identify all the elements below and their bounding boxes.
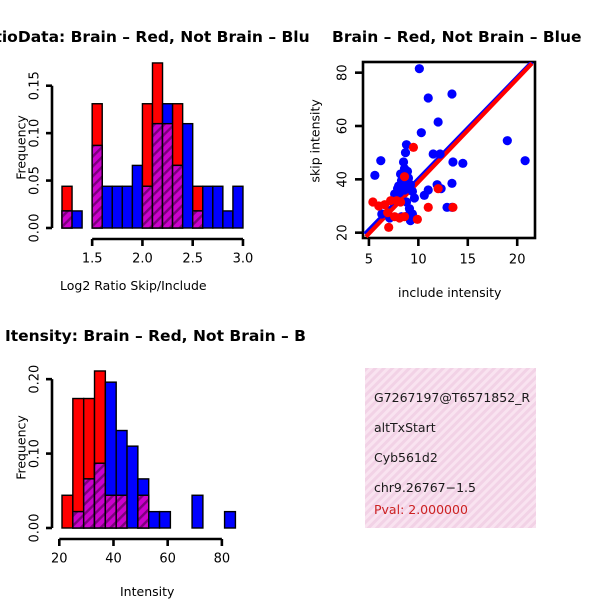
y-tick-label: 20 [336,224,351,241]
hist-bar-overlap [193,211,203,228]
y-tick-label: 80 [336,64,351,81]
hist-ratio-ylabel: Frequency [14,113,29,183]
info-line-2: altTxStart [374,420,436,435]
panel-hist-intensity: ne Itensity: Brain – Red, Not Brain – B … [0,300,300,600]
y-tick-label: 0.20 [28,365,43,394]
x-tick-label: 20 [51,552,68,567]
hist-bar-overlap [163,124,173,228]
hist-intensity-ylabel: Frequency [14,413,29,483]
hist-bar-not-brain [223,211,233,228]
scatter-point [410,193,419,202]
scatter-point [396,197,405,206]
scatter-point [376,156,385,165]
info-line-1: G7267197@T6571852_R [374,390,530,405]
scatter-point [458,159,467,168]
x-tick-label: 5 [365,253,373,268]
x-tick-label: 2.5 [182,252,203,267]
hist-bar-overlap [105,495,116,528]
hist-bar-overlap [142,186,152,228]
x-tick-label: 1.5 [82,252,103,267]
hist-intensity-xlabel: Intensity [120,584,174,599]
panel-hist-ratio: atioData: Brain – Red, Not Brain – Blu 0… [0,0,300,300]
hist-bar-not-brain [213,186,223,228]
hist-bars [62,371,235,528]
scatter-point [447,89,456,98]
hist-bar-not-brain [149,512,160,528]
x-tick-label: 80 [214,552,231,567]
x-tick-label: 2.0 [132,252,153,267]
hist-bar-overlap [152,124,162,228]
hist-bar-not-brain [203,186,213,228]
scatter-xlabel: include intensity [398,285,501,300]
hist-bar-not-brain [127,446,138,528]
x-tick-label: 40 [105,552,122,567]
y-tick-label: 60 [336,118,351,135]
hist-ratio-xlabel: Log2 Ratio Skip/Include [60,278,207,293]
panel-info: G7267197@T6571852_R altTxStart Cyb561d2 … [300,300,600,600]
scatter-point [400,172,409,181]
y-tick-label: 0.15 [28,71,43,100]
info-line-4: chr9.26767−1.5 [374,480,476,495]
y-tick-label: 0.00 [28,214,43,243]
scatter-point [409,143,418,152]
scatter-point [370,171,379,180]
scatter-ylabel: skip intensity [308,113,323,183]
hist-bar-overlap [73,512,84,528]
hist-bar-not-brain [112,186,122,228]
scatter-point [447,179,456,188]
scatter-point [415,64,424,73]
hist-bar-not-brain [122,186,132,228]
hist-bar-overlap [116,495,127,528]
scatter-point [424,203,433,212]
hist-bar-not-brain [233,186,243,228]
info-pval-label: Pval: 2.000000 [374,502,468,517]
scatter-point [434,184,443,193]
scatter-point [384,223,393,232]
hist-bars [62,63,243,228]
hist-bar-not-brain [160,512,171,528]
scatter-title: Brain – Red, Not Brain – Blue [332,28,582,46]
scatter-point [448,203,457,212]
panel-scatter: Brain – Red, Not Brain – Blue 2040608051… [300,0,600,300]
scatter-point [424,93,433,102]
hist-bar-not-brain [225,512,236,528]
hist-bar-overlap [138,495,149,528]
hist-ratio-title: atioData: Brain – Red, Not Brain – Blu [0,28,310,46]
scatter-point [436,149,445,158]
info-line-3: Cyb561d2 [374,450,438,465]
x-tick-label: 20 [509,253,526,268]
scatter-point [448,157,457,166]
hist-bar-brain [62,495,73,528]
scatter-point [521,156,530,165]
y-tick-label: 0.10 [28,119,43,148]
hist-bar-not-brain [183,124,193,228]
info-box: G7267197@T6571852_R altTxStart Cyb561d2 … [365,368,536,528]
x-tick-label: 10 [410,253,427,268]
x-tick-label: 15 [460,253,477,268]
hist-bar-overlap [62,211,72,228]
hist-bar-overlap [84,479,95,528]
x-tick-label: 3.0 [233,252,254,267]
scatter-point [424,185,433,194]
hist-bar-not-brain [102,186,112,228]
hist-bar-overlap [95,463,106,528]
scatter-content [365,62,532,237]
hist-bar-not-brain [192,495,203,528]
scatter-point [434,117,443,126]
scatter-point [503,136,512,145]
y-tick-label: 0.00 [28,514,43,543]
y-tick-label: 40 [336,171,351,188]
hist-bar-overlap [173,165,183,228]
scatter-point [417,128,426,137]
hist-intensity-title: ne Itensity: Brain – Red, Not Brain – B [0,327,306,345]
hist-bar-not-brain [132,165,142,228]
scatter-point [401,148,410,157]
y-tick-label: 0.05 [28,166,43,195]
y-tick-label: 0.10 [28,439,43,468]
hist-bar-not-brain [72,211,82,228]
hist-bar-brain [73,399,84,528]
scatter-point [400,212,409,221]
hist-bar-overlap [92,145,102,228]
scatter-point [413,215,422,224]
x-tick-label: 60 [159,552,176,567]
hist-intensity-plot: 0.000.100.2020406080 [0,300,300,600]
